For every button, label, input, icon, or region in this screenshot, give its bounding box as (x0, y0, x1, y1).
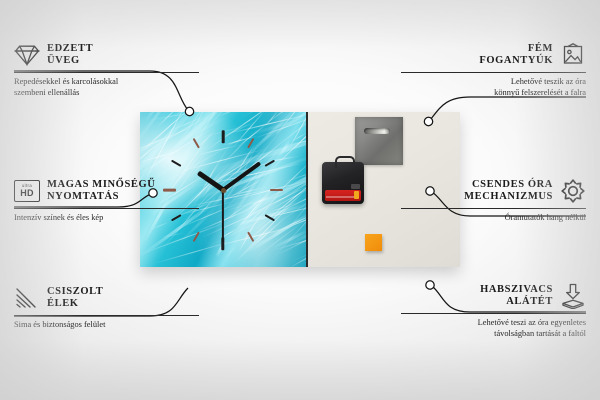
feature-header: ultra HD MAGAS MINŐSÉGŰ NYOMTATÁS (14, 178, 199, 204)
feature-foam-spacer[interactable]: HABSZIVACS ALÁTÉT Lehetővé teszi az óra … (401, 283, 586, 339)
feature-header: EDZETT ÜVEG (14, 42, 199, 68)
feature-title: CSISZOLT ÉLEK (47, 286, 103, 311)
feature-silent-mechanism[interactable]: CSENDES ÓRA MECHANIZMUS (401, 178, 586, 224)
feature-title: EDZETT ÜVEG (47, 43, 93, 68)
feature-subtitle: Lehetővé teszik az óra könnyű felszerelé… (401, 77, 586, 98)
foam-pad-icon (560, 283, 586, 309)
feature-hd-print[interactable]: ultra HD MAGAS MINŐSÉGŰ NYOMTATÁS Intenz… (14, 178, 199, 224)
divider (401, 313, 586, 314)
foam-pad (365, 234, 382, 251)
feature-subtitle: Repedésekkel és karcolásokkal szembeni e… (14, 77, 199, 98)
feature-title: MAGAS MINŐSÉGŰ NYOMTATÁS (47, 179, 155, 204)
picture-hanger-icon (560, 42, 586, 68)
divider (401, 208, 586, 209)
quartz-mechanism (322, 162, 364, 204)
ultra-hd-icon: ultra HD (14, 178, 40, 204)
polished-edge-icon (14, 285, 40, 311)
metal-hanger-plate (355, 117, 403, 165)
hanger-slot (364, 128, 390, 134)
feature-metal-hangers[interactable]: FÉM FOGANTYÚK Lehetővé teszik az óra kön… (401, 42, 586, 98)
feature-tempered-glass[interactable]: EDZETT ÜVEG Repedésekkel és karcolásokka… (14, 42, 199, 98)
feature-header: CSISZOLT ÉLEK (14, 285, 199, 311)
feature-polished-edges[interactable]: CSISZOLT ÉLEK Sima és biztonságos felüle… (14, 285, 199, 331)
feature-subtitle: Intenzív színek és éles kép (14, 213, 199, 224)
feature-header: CSENDES ÓRA MECHANIZMUS (401, 178, 586, 204)
mechanism-setter (351, 184, 360, 189)
divider (14, 315, 199, 316)
diamond-icon (14, 42, 40, 68)
mechanism-hook (335, 156, 355, 168)
battery-stripe (326, 196, 354, 198)
feature-header: HABSZIVACS ALÁTÉT (401, 283, 586, 309)
infographic-canvas: EDZETT ÜVEG Repedésekkel és karcolásokka… (0, 0, 600, 400)
feature-subtitle: Sima és biztonságos felület (14, 320, 199, 331)
feature-title: FÉM FOGANTYÚK (479, 43, 553, 68)
feature-subtitle: Lehetővé teszi az óra egyenletes távolsá… (401, 318, 586, 339)
feature-subtitle: Óramutatók hang nélkül (401, 213, 586, 224)
divider (14, 72, 199, 73)
gear-icon (560, 178, 586, 204)
divider (14, 208, 199, 209)
feature-title: HABSZIVACS ALÁTÉT (480, 284, 553, 309)
clock-center-pin (221, 188, 226, 193)
feature-title: CSENDES ÓRA MECHANIZMUS (464, 179, 553, 204)
divider (401, 72, 586, 73)
second-hand (222, 190, 224, 242)
feature-header: FÉM FOGANTYÚK (401, 42, 586, 68)
